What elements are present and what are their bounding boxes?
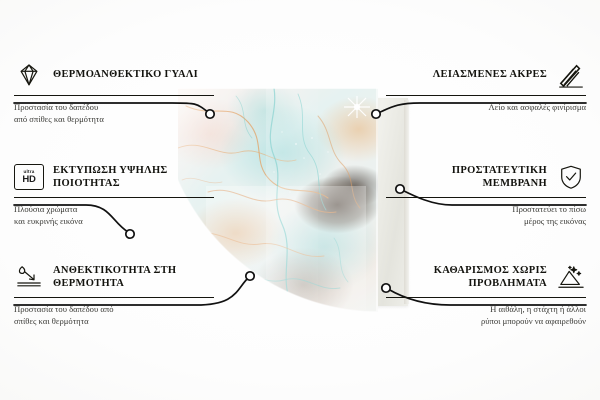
shield-check-icon: [556, 162, 586, 192]
feature-description: Προστασία του δαπέδου απόσπίθες και θερμ…: [14, 303, 214, 328]
feature-easy-cleaning: ΚΑΘΑΡΙΣΜΟΣ ΧΩΡΙΣ ΠΡΟΒΛΗΜΑΤΑ Η αιθάλη, η …: [386, 262, 586, 328]
feature-header: ΘΕΡΜΟΑΝΘΕΚΤΙΚΟ ΓΥΑΛΙ: [14, 60, 214, 90]
feature-title: ΛΕΙΑΣΜΕΝΕΣ ΑΚΡΕΣ: [433, 68, 547, 81]
feature-header: ΑΝΘΕΚΤΙΚΟΤΗΤΑ ΣΤΗ ΘΕΡΜΟΤΗΤΑ: [14, 262, 214, 292]
diamond-icon: [14, 60, 44, 90]
feature-title: ΚΑΘΑΡΙΣΜΟΣ ΧΩΡΙΣ ΠΡΟΒΛΗΜΑΤΑ: [386, 264, 547, 291]
feature-description: Προστατεύει το πίσωμέρος της εικόνας: [386, 203, 586, 228]
divider: [14, 297, 214, 298]
feature-heat-resistant-glass: ΘΕΡΜΟΑΝΘΕΚΤΙΚΟ ΓΥΑΛΙ Προστασία του δαπέδ…: [14, 60, 214, 126]
feature-title: ΠΡΟΣΤΑΤΕΥΤΙΚΗ ΜΕΜΒΡΑΝΗ: [386, 164, 547, 191]
connector-dot-left-2: [126, 230, 134, 238]
feature-heat-durability: ΑΝΘΕΚΤΙΚΟΤΗΤΑ ΣΤΗ ΘΕΡΜΟΤΗΤΑ Προστασία το…: [14, 262, 214, 328]
feature-high-quality-print: ultra HD ΕΚΤΥΠΩΣΗ ΥΨΗΛΗΣ ΠΟΙΟΤΗΤΑΣ Πλούσ…: [14, 162, 214, 228]
infographic-stage: ΘΕΡΜΟΑΝΘΕΚΤΙΚΟ ΓΥΑΛΙ Προστασία του δαπέδ…: [0, 0, 600, 400]
feature-header: ultra HD ΕΚΤΥΠΩΣΗ ΥΨΗΛΗΣ ΠΟΙΟΤΗΤΑΣ: [14, 162, 214, 192]
divider: [14, 95, 214, 96]
feature-header: ΚΑΘΑΡΙΣΜΟΣ ΧΩΡΙΣ ΠΡΟΒΛΗΜΑΤΑ: [386, 262, 586, 292]
feature-title: ΕΚΤΥΠΩΣΗ ΥΨΗΛΗΣ ΠΟΙΟΤΗΤΑΣ: [53, 164, 214, 191]
feature-header: ΠΡΟΣΤΑΤΕΥΤΙΚΗ ΜΕΜΒΡΑΝΗ: [386, 162, 586, 192]
feature-description: Λείο και ασφαλές φινίρισμα: [386, 101, 586, 113]
feature-title: ΑΝΘΕΚΤΙΚΟΤΗΤΑ ΣΤΗ ΘΕΡΜΟΤΗΤΑ: [53, 264, 214, 291]
feature-protective-membrane: ΠΡΟΣΤΑΤΕΥΤΙΚΗ ΜΕΜΒΡΑΝΗ Προστατεύει το πί…: [386, 162, 586, 228]
feature-title: ΘΕΡΜΟΑΝΘΕΚΤΙΚΟ ΓΥΑΛΙ: [53, 68, 198, 81]
feature-header: ΛΕΙΑΣΜΕΝΕΣ ΑΚΡΕΣ: [386, 60, 586, 90]
feature-description: Προστασία του δαπέδουαπό σπίθες και θερμ…: [14, 101, 214, 126]
hd-label: HD: [22, 175, 35, 185]
diagonal-stripes-icon: [556, 60, 586, 90]
flame-deflect-icon: [14, 262, 44, 292]
feature-description: Η αιθάλη, η στάχτη ή άλλοιρύποι μπορούν …: [386, 303, 586, 328]
sparkle-clean-icon: [556, 262, 586, 292]
feature-polished-edges: ΛΕΙΑΣΜΕΝΕΣ ΑΚΡΕΣ Λείο και ασφαλές φινίρι…: [386, 60, 586, 113]
divider: [14, 197, 214, 198]
divider: [386, 95, 586, 96]
feature-description: Πλούσια χρώματακαι ευκρινής εικόνα: [14, 203, 214, 228]
divider: [386, 297, 586, 298]
product-image: [178, 88, 418, 320]
divider: [386, 197, 586, 198]
ultra-hd-badge-icon: ultra HD: [14, 162, 44, 192]
